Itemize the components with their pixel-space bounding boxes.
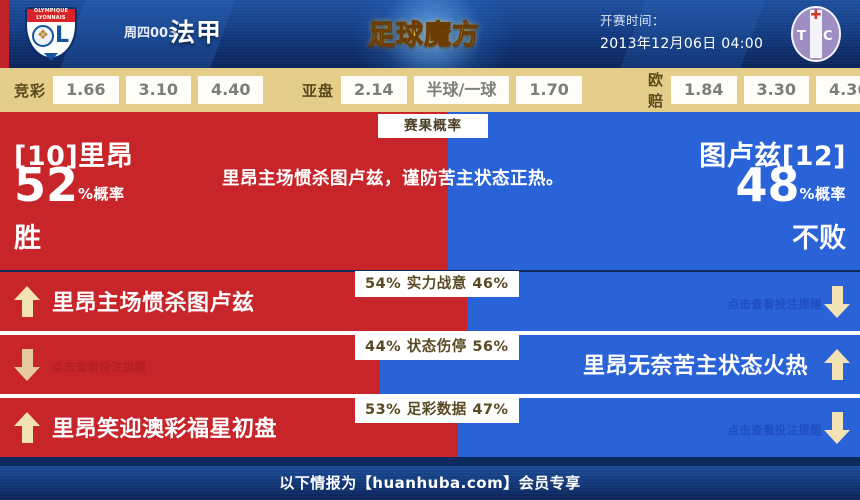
header-red-accent — [0, 0, 9, 68]
trend-up-icon — [824, 349, 850, 381]
betting-alert-link[interactable]: 点击查看投注提醒 — [728, 296, 822, 312]
odds-cell[interactable]: 4.40 — [198, 76, 263, 104]
away-probability-value: 48 — [735, 158, 799, 212]
lion-icon: ❖ — [35, 28, 51, 44]
stat-rows: 里昂主场惯杀图卢兹 点击查看投注提醒 54% 实力战意 46% 点击查看投注提醒… — [0, 272, 860, 462]
header-bar: OLYMPIQUE LYONNAIS ❖ L 周四003 法甲 足球魔方 开赛时… — [0, 0, 860, 68]
odds-cell[interactable]: 4.36 — [816, 76, 860, 104]
odds-cell[interactable]: 半球/一球 — [414, 76, 510, 104]
league-name: 法甲 — [170, 13, 222, 49]
away-stat-percent: 47% — [472, 402, 508, 418]
away-stat-percent: 46% — [472, 276, 508, 292]
odds-group-label: 竞彩 — [14, 80, 46, 101]
stat-metric-badge: 53% 足彩数据 47% — [355, 397, 519, 423]
trend-down-icon — [824, 412, 850, 444]
home-probability-value: 52 — [14, 158, 78, 212]
home-stat-percent: 53% — [365, 402, 401, 418]
home-stat-percent: 44% — [365, 339, 401, 355]
odds-bar: 竞彩 1.66 3.10 4.40 亚盘 2.14 半球/一球 1.70 欧赔 … — [0, 68, 860, 112]
crest-letter-right: C — [823, 29, 833, 44]
kickoff-time: 2013年12月06日 04:00 — [600, 33, 763, 53]
trend-up-icon — [14, 286, 40, 318]
trend-down-icon — [14, 349, 40, 381]
away-stat-percent: 56% — [472, 339, 508, 355]
odds-cell[interactable]: 3.30 — [744, 76, 809, 104]
betting-alert-link[interactable]: 点击查看投注提醒 — [728, 422, 822, 438]
stat-metric-name: 足彩数据 — [407, 402, 467, 418]
stat-row-home-text: 里昂主场惯杀图卢兹 — [52, 285, 255, 317]
kickoff-label: 开赛时间： — [600, 10, 665, 29]
home-team-crest-icon: OLYMPIQUE LYONNAIS ❖ L — [22, 5, 80, 63]
stat-metric-name: 状态伤停 — [407, 339, 467, 355]
odds-group-label: 亚盘 — [302, 80, 334, 101]
footer-text: 以下情报为【huanhuba.com】会员专享 — [0, 466, 860, 500]
odds-cell[interactable]: 2.14 — [341, 76, 406, 104]
odds-group-jingcai: 竞彩 1.66 3.10 4.40 — [14, 68, 263, 112]
odds-cell[interactable]: 1.84 — [671, 76, 736, 104]
stat-row-home-text: 里昂笑迎澳彩福星初盘 — [52, 411, 277, 443]
crest-letter-left: T — [797, 29, 806, 44]
stat-row-away-text: 里昂无奈苦主状态火热 — [583, 348, 808, 380]
stat-row: 点击查看投注提醒 里昂无奈苦主状态火热 44% 状态伤停 56% — [0, 335, 860, 394]
trend-up-icon — [14, 412, 40, 444]
away-outcome-label: 不败 — [792, 216, 846, 255]
match-analysis-card: OLYMPIQUE LYONNAIS ❖ L 周四003 法甲 足球魔方 开赛时… — [0, 0, 860, 500]
odds-group-yapan: 亚盘 2.14 半球/一球 1.70 — [302, 68, 582, 112]
stat-row: 里昂笑迎澳彩福星初盘 点击查看投注提醒 53% 足彩数据 47% — [0, 398, 860, 457]
cross-icon: ✚ — [810, 9, 822, 23]
home-stat-percent: 54% — [365, 276, 401, 292]
odds-cell[interactable]: 3.10 — [126, 76, 191, 104]
home-probability-unit: %概率 — [78, 185, 125, 203]
stat-row: 里昂主场惯杀图卢兹 点击查看投注提醒 54% 实力战意 46% — [0, 272, 860, 331]
home-outcome-label: 胜 — [14, 216, 41, 255]
crest-letter: L — [55, 23, 69, 49]
away-probability: 48%概率 — [735, 162, 846, 208]
stat-metric-badge: 44% 状态伤停 56% — [355, 334, 519, 360]
away-team-crest-icon: ✚ T C — [788, 5, 844, 63]
odds-cell[interactable]: 1.66 — [53, 76, 118, 104]
stat-metric-badge: 54% 实力战意 46% — [355, 271, 519, 297]
stat-metric-name: 实力战意 — [407, 276, 467, 292]
odds-group-label: 欧赔 — [648, 69, 664, 111]
betting-alert-link[interactable]: 点击查看投注提醒 — [52, 359, 146, 375]
trend-down-icon — [824, 286, 850, 318]
match-summary-text: 里昂主场惯杀图卢兹，谨防苦主状态正热。 — [222, 164, 638, 194]
home-probability: 52%概率 — [14, 162, 125, 208]
result-probability-badge: 赛果概率 — [378, 114, 488, 138]
brand-logo: 足球魔方 — [368, 13, 480, 52]
odds-group-oupei: 欧赔 1.84 3.30 4.36 — [648, 68, 860, 112]
odds-cell[interactable]: 1.70 — [516, 76, 581, 104]
away-probability-unit: %概率 — [799, 185, 846, 203]
footer-bar: 以下情报为【huanhuba.com】会员专享 — [0, 466, 860, 500]
crest-band-text: OLYMPIQUE LYONNAIS — [27, 8, 75, 22]
